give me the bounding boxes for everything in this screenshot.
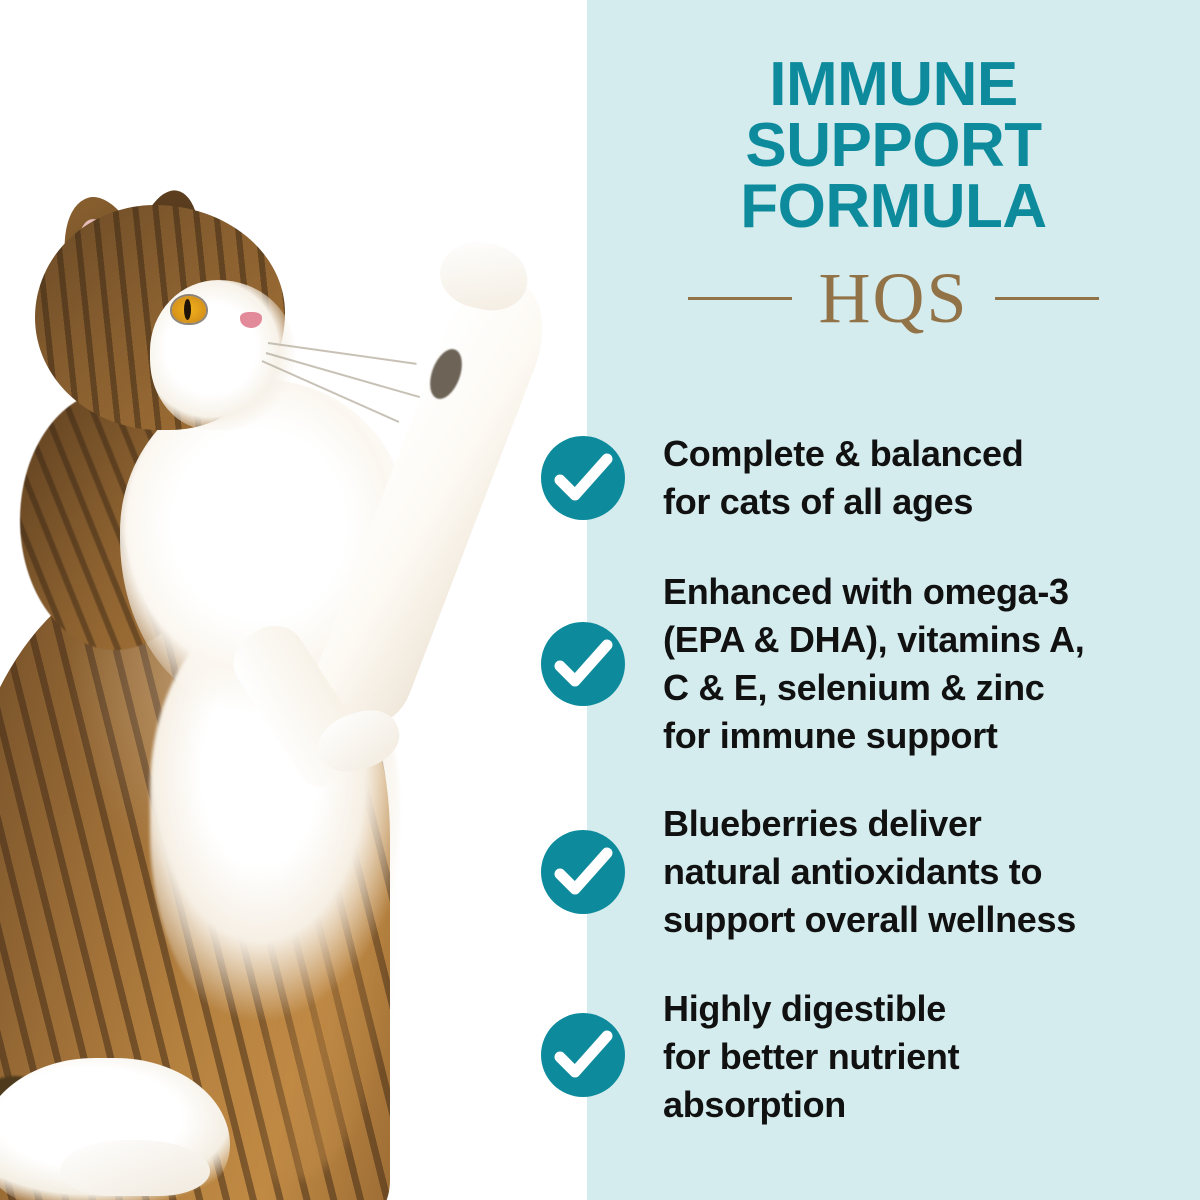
headline: IMMUNE SUPPORT FORMULA: [587, 54, 1200, 237]
cat-photo-panel: [0, 0, 587, 1200]
benefit-text: Enhanced with omega-3 (EPA & DHA), vitam…: [663, 568, 1163, 760]
cat-hind-paw: [60, 1140, 210, 1196]
checkmark-icon: [541, 622, 625, 706]
benefit-line: (EPA & DHA), vitamins A,: [663, 616, 1163, 664]
benefit-line: for immune support: [663, 712, 1163, 760]
brand-rule-left: [688, 297, 792, 300]
benefit-text: Blueberries deliver natural antioxidants…: [663, 800, 1163, 944]
benefit-line: support overall wellness: [663, 896, 1163, 944]
headline-line-1: IMMUNE: [587, 54, 1200, 115]
headline-line-3: FORMULA: [587, 176, 1200, 237]
benefit-text: Highly digestible for better nutrient ab…: [663, 985, 1163, 1129]
checkmark-icon: [541, 830, 625, 914]
benefit-line: Complete & balanced: [663, 430, 1163, 478]
benefit-text: Complete & balanced for cats of all ages: [663, 430, 1163, 526]
benefit-line: natural antioxidants to: [663, 848, 1163, 896]
benefit-line: for better nutrient: [663, 1033, 1163, 1081]
benefit-line: C & E, selenium & zinc: [663, 664, 1163, 712]
checkmark-icon: [541, 1013, 625, 1097]
brand-name: HQS: [818, 262, 968, 334]
benefit-line: for cats of all ages: [663, 478, 1163, 526]
cat-pupil: [184, 299, 191, 320]
checkmark-icon: [541, 436, 625, 520]
benefit-line: Highly digestible: [663, 985, 1163, 1033]
benefit-line: Blueberries deliver: [663, 800, 1163, 848]
benefit-line: Enhanced with omega-3: [663, 568, 1163, 616]
benefit-line: absorption: [663, 1081, 1163, 1129]
product-feature-image: IMMUNE SUPPORT FORMULA HQS Complete & ba…: [0, 0, 1200, 1200]
headline-line-2: SUPPORT: [587, 115, 1200, 176]
brandmark: HQS: [587, 262, 1200, 334]
brand-rule-right: [995, 297, 1099, 300]
